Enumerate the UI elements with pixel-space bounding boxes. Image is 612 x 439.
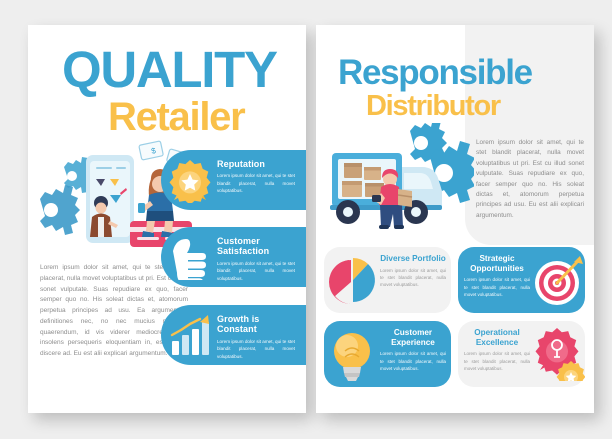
card-text-block: Customer Experience Lorem ipsum dolor si… bbox=[380, 328, 446, 372]
feature-badge-growth-is-constant[interactable]: Growth is Constant Lorem ipsum dolor sit… bbox=[161, 305, 306, 365]
badge-description: Lorem ipsum dolor sit amet, qui te stet … bbox=[217, 338, 295, 360]
info-card-customer-experience[interactable]: Customer Experience Lorem ipsum dolor si… bbox=[324, 321, 451, 387]
card-text-block: Operational Excellence Lorem ipsum dolor… bbox=[464, 328, 530, 372]
info-card-diverse-portfolio[interactable]: Diverse Portfolio Lorem ipsum dolor sit … bbox=[324, 247, 451, 313]
card-heading: Customer Experience bbox=[380, 328, 446, 347]
left-page-title: QUALITY Retailer bbox=[62, 45, 277, 137]
card-description: Lorem ipsum dolor sit amet, qui te stet … bbox=[380, 267, 446, 289]
right-page-body-text: Lorem ipsum dolor sit amet, qui te stet … bbox=[476, 138, 584, 221]
target-dartboard-icon bbox=[533, 253, 585, 307]
left-brochure-page: QUALITY Retailer bbox=[28, 25, 306, 413]
delivery-truck-illustration bbox=[324, 123, 474, 241]
pie-chart-icon bbox=[327, 253, 379, 307]
card-description: Lorem ipsum dolor sit amet, qui te stet … bbox=[380, 350, 446, 372]
feature-badge-reputation[interactable]: Reputation Lorem ipsum dolor sit amet, q… bbox=[161, 150, 306, 210]
left-title-line2: Retailer bbox=[108, 98, 277, 137]
badge-description: Lorem ipsum dolor sit amet, qui te stet … bbox=[217, 172, 295, 194]
award-badges-icon bbox=[533, 327, 585, 381]
badge-text-block: Reputation Lorem ipsum dolor sit amet, q… bbox=[217, 159, 295, 195]
badge-heading: Reputation bbox=[217, 159, 295, 169]
badge-description: Lorem ipsum dolor sit amet, qui te stet … bbox=[217, 260, 295, 282]
feature-badge-customer-satisfaction[interactable]: Customer Satisfaction Lorem ipsum dolor … bbox=[161, 227, 306, 287]
right-title-line2: Distributor bbox=[366, 92, 532, 120]
badge-text-block: Customer Satisfaction Lorem ipsum dolor … bbox=[217, 236, 295, 282]
card-description: Lorem ipsum dolor sit amet, qui te stet … bbox=[464, 276, 530, 298]
badge-heading: Customer Satisfaction bbox=[217, 236, 295, 257]
left-title-line1: QUALITY bbox=[62, 45, 277, 95]
right-page-title: Responsible Distributor bbox=[338, 56, 532, 121]
card-text-block: Strategic Opportunities Lorem ipsum dolo… bbox=[464, 254, 530, 298]
thumbs-up-icon bbox=[167, 235, 213, 280]
card-description: Lorem ipsum dolor sit amet, qui te stet … bbox=[464, 350, 530, 372]
lightbulb-icon bbox=[327, 327, 379, 381]
card-heading: Operational Excellence bbox=[464, 328, 530, 347]
badge-heading: Growth is Constant bbox=[217, 314, 295, 335]
card-text-block: Diverse Portfolio Lorem ipsum dolor sit … bbox=[380, 254, 446, 288]
right-brochure-page: Responsible Distributor Lorem ipsum dolo… bbox=[316, 25, 594, 413]
card-heading: Diverse Portfolio bbox=[380, 254, 446, 264]
badge-text-block: Growth is Constant Lorem ipsum dolor sit… bbox=[217, 314, 295, 360]
info-card-operational-excellence[interactable]: Operational Excellence Lorem ipsum dolor… bbox=[458, 321, 585, 387]
card-heading: Strategic Opportunities bbox=[464, 254, 530, 273]
growth-bar-chart-icon bbox=[167, 313, 213, 358]
brochure-canvas: QUALITY Retailer bbox=[0, 0, 612, 439]
right-title-line1: Responsible bbox=[338, 56, 532, 90]
award-rosette-icon bbox=[167, 158, 213, 203]
info-card-strategic-opportunities[interactable]: Strategic Opportunities Lorem ipsum dolo… bbox=[458, 247, 585, 313]
